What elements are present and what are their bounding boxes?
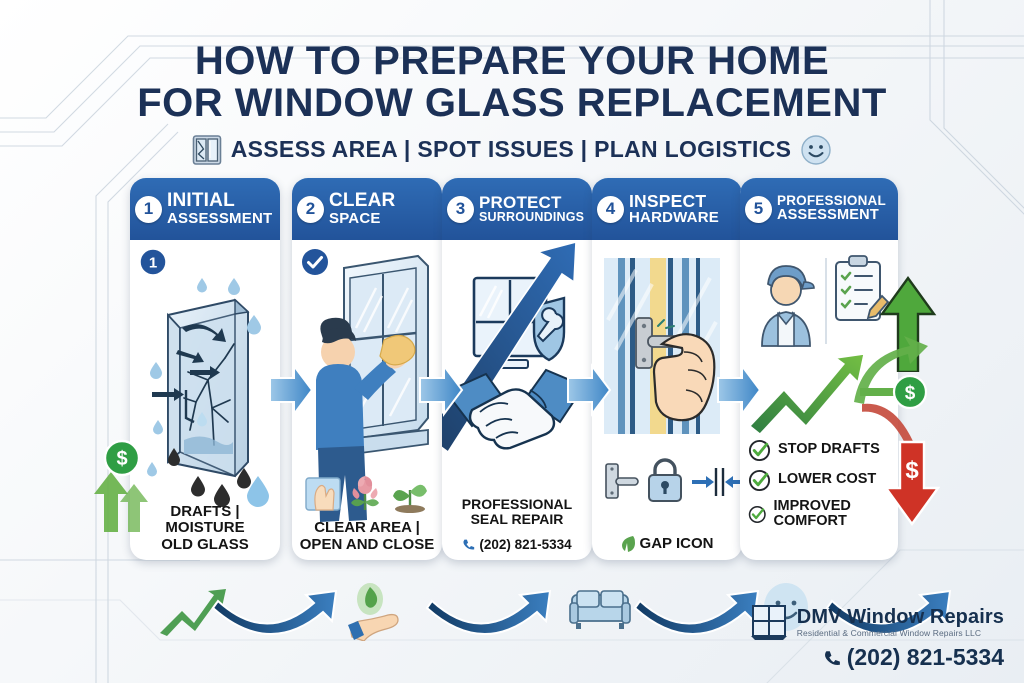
subtitle-text: ASSESS AREA | SPOT ISSUES | PLAN LOGISTI… [231,136,792,163]
connector-arrow-2-3 [418,360,464,424]
smiley-icon [800,134,832,166]
gap-measure-icon [692,468,742,496]
step-1-header: 1 INITIAL ASSESSMENT [130,178,280,240]
number-badge-icon: 1 [139,248,167,276]
subtitle-row: ASSESS AREA | SPOT ISSUES | PLAN LOGISTI… [0,134,1024,166]
step-1-number: 1 [135,196,162,223]
step-3-caption: PROFESSIONAL SEAL REPAIR [442,497,592,528]
step-2-header: 2 CLEAR SPACE [292,178,442,240]
svg-text:$: $ [116,448,127,470]
check-circle-icon [748,469,771,492]
step-3-caption-line2: SEAL REPAIR [442,512,592,528]
step-5-number: 5 [745,196,772,223]
dollar-arrow-down-icon: $ [884,440,940,528]
connector-arrow-4-5 [716,360,762,424]
step-4-header: 4 INSPECT HARDWARE [592,178,742,240]
step-5-title-line1: PROFESSIONAL [777,194,886,208]
brand-row: DMV Window Repairs Residential & Commerc… [749,602,1004,642]
step-5-title-line2: ASSESSMENT [777,208,886,223]
infographic-canvas: HOW TO PREPARE YOUR HOME FOR WINDOW GLAS… [0,0,1024,683]
step-4-caption: GAP ICON [592,535,742,552]
step-1-caption-line2: OLD GLASS [130,537,280,554]
step-4-caption-text: GAP ICON [640,535,714,552]
step-5-header: 5 PROFESSIONAL ASSESSMENT [740,178,898,240]
step-2-number: 2 [297,196,324,223]
check-circle-icon [748,503,767,526]
step-3-header: 3 PROTECT SURROUNDINGS [442,178,592,240]
phone-icon [462,538,475,551]
footer-phone[interactable]: (202) 821-5334 [823,644,1004,671]
checklist-item: LOWER COST [748,469,898,492]
step-4-title-line2: HARDWARE [629,210,719,226]
hand-leaf-icon [348,583,398,641]
phone-icon [823,649,841,667]
step-2-caption-line2: OPEN AND CLOSE [292,537,442,554]
checklist-label: LOWER COST [778,472,876,488]
step-3-title-line1: PROTECT [479,194,584,212]
step-1-title-line2: ASSESSMENT [167,211,272,227]
door-handle-icon [606,464,638,498]
step-1-title-line1: INITIAL [167,191,272,211]
sofa-icon [570,591,630,629]
window-icon [192,134,222,166]
check-badge-icon [301,248,329,276]
footer-phone-number: (202) 821-5334 [847,644,1004,671]
title-block: HOW TO PREPARE YOUR HOME FOR WINDOW GLAS… [0,40,1024,166]
dollar-coin-up-icon: $ [86,432,156,532]
connector-arrow-1-2 [268,360,314,424]
checklist-item: IMPROVED COMFORT [748,499,898,530]
green-trend-icon [160,589,226,636]
footer-branding: DMV Window Repairs Residential & Commerc… [749,602,1004,671]
cleaning-cloth-icon [306,478,340,510]
brand-name: DMV Window Repairs [797,606,1004,629]
step-3-phone[interactable]: (202) 821-5334 [442,537,592,552]
check-circle-icon [748,439,771,462]
checklist-label: IMPROVED COMFORT [774,499,898,530]
step-3-phone-number: (202) 821-5334 [479,537,571,552]
step-2-title-line2: SPACE [329,211,395,227]
step-2-title-line1: CLEAR [329,191,395,211]
svg-text:1: 1 [149,255,157,272]
step-3-title-line2: SURROUNDINGS [479,211,584,224]
plant-icon [393,485,427,513]
svg-text:$: $ [905,457,919,484]
brand-tagline: Residential & Commercial Window Repairs … [797,628,1004,638]
leaf-icon [621,535,636,552]
step-4-number: 4 [597,196,624,223]
step-3-caption-line1: PROFESSIONAL [442,497,592,513]
step-2-caption-line1: CLEAR AREA | [292,520,442,537]
step-4-title-line1: INSPECT [629,192,719,210]
lock-icon [649,460,681,501]
window-logo-icon [749,602,789,642]
step-3-number: 3 [447,196,474,223]
step-2-caption: CLEAR AREA | OPEN AND CLOSE [292,520,442,554]
page-title-line1: HOW TO PREPARE YOUR HOME [0,40,1024,82]
connector-arrow-3-4 [566,360,612,424]
page-title-line2: FOR WINDOW GLASS REPLACEMENT [0,82,1024,124]
